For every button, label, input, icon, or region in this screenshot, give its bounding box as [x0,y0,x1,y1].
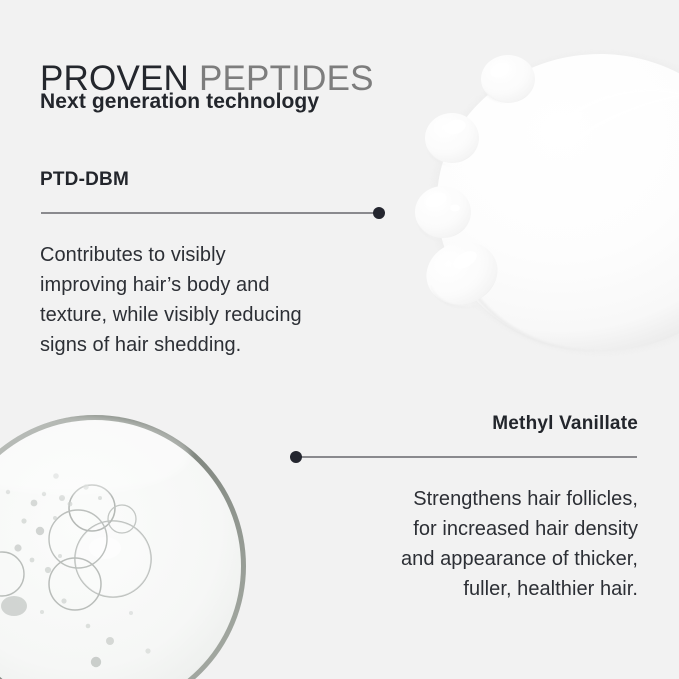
divider-dot-icon [290,451,302,463]
copy-layer: PROVEN PEPTIDES Next generation technolo… [0,0,679,679]
promo-graphic-canvas: PROVEN PEPTIDES Next generation technolo… [0,0,679,679]
divider-line [41,212,378,214]
description-line: signs of hair shedding. [40,330,385,360]
description-line: and appearance of thicker, [290,544,638,574]
ingredient-divider [40,206,385,220]
ingredient-name: PTD-DBM [40,168,385,192]
ingredient-description: Contributes to visibly improving hair’s … [40,240,385,360]
description-line: texture, while visibly reducing [40,300,385,330]
page-subtitle: Next generation technology [40,88,319,116]
ingredient-name: Methyl Vanillate [290,412,638,436]
description-line: Strengthens hair follicles, [290,484,638,514]
description-line: fuller, healthier hair. [290,574,638,604]
ingredient-description: Strengthens hair follicles, for increase… [290,484,638,604]
divider-line [297,456,637,458]
description-line: Contributes to visibly [40,240,385,270]
ingredient-block-ptd-dbm: PTD-DBM Contributes to visibly improving… [40,168,385,360]
description-line: for increased hair density [290,514,638,544]
divider-dot-icon [373,207,385,219]
description-line: improving hair’s body and [40,270,385,300]
ingredient-divider [290,450,638,464]
ingredient-block-methyl-vanillate: Methyl Vanillate Strengthens hair follic… [290,412,638,604]
